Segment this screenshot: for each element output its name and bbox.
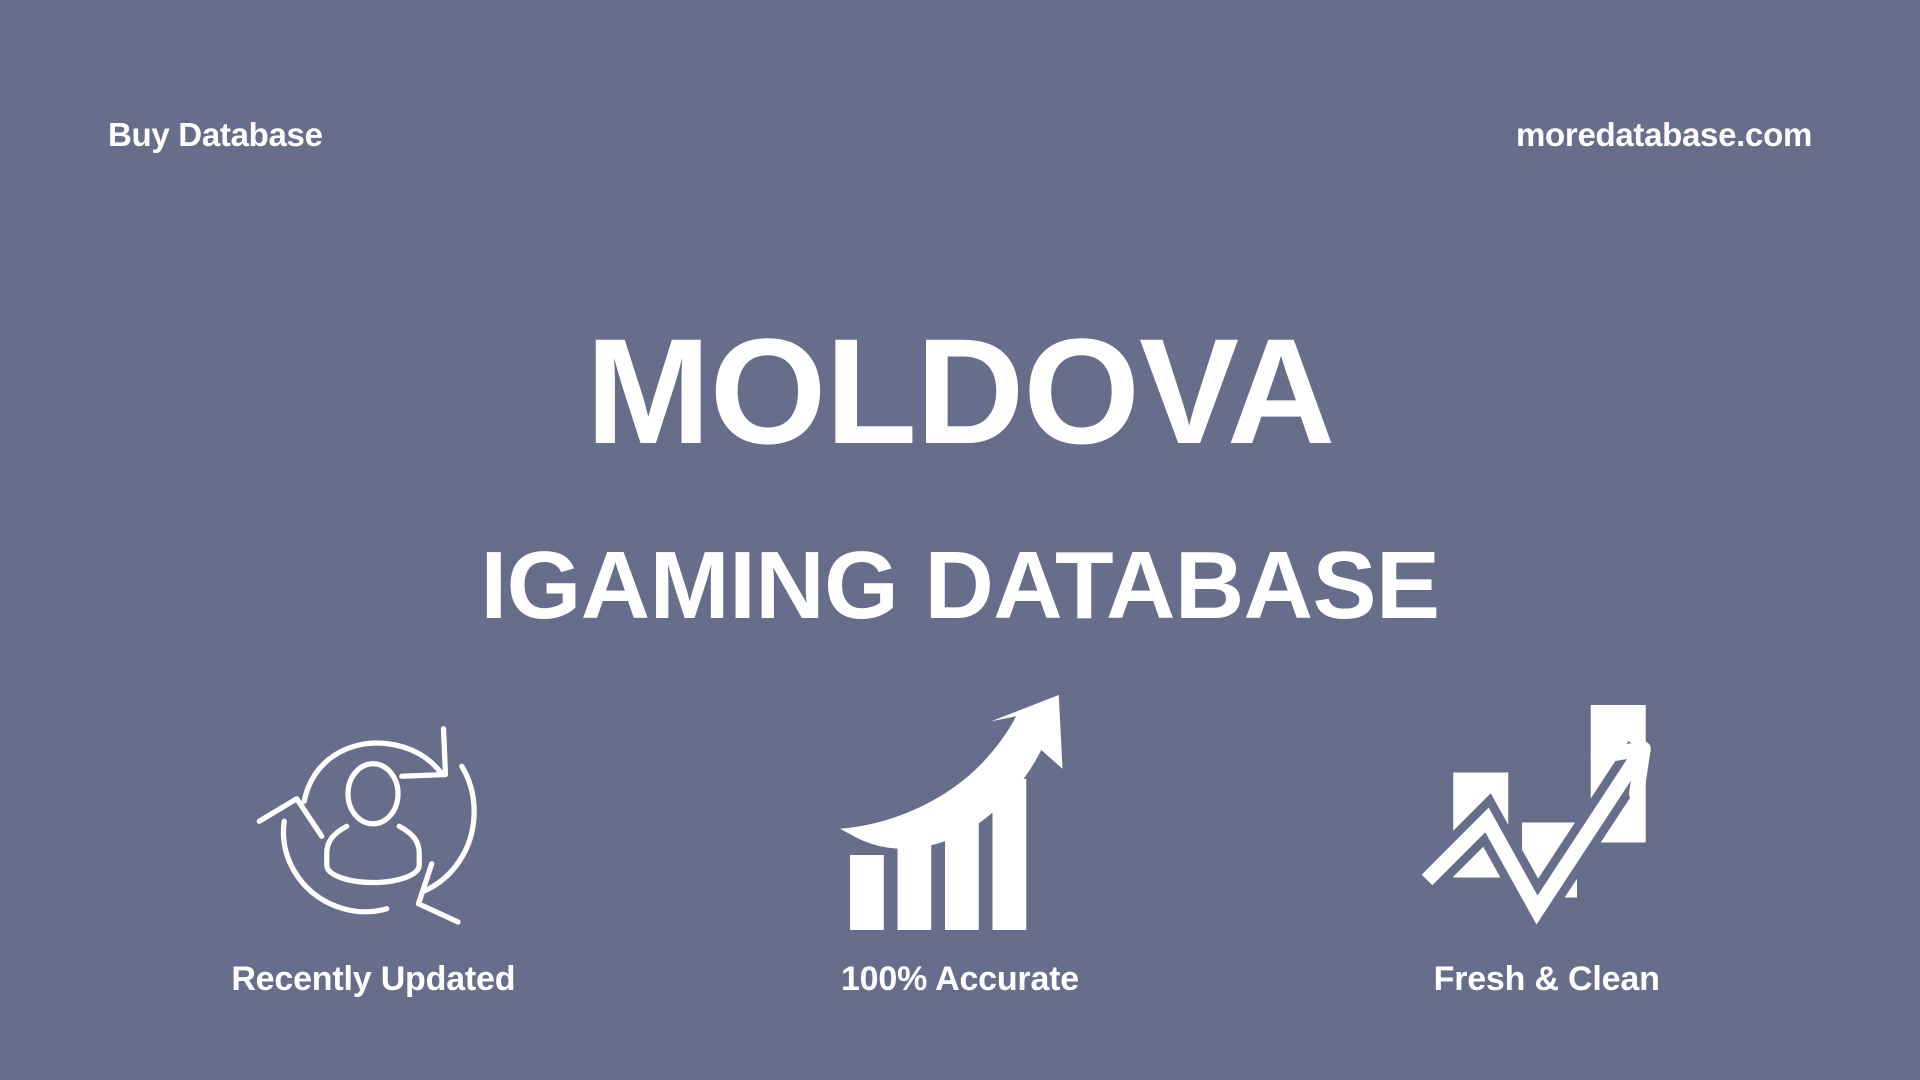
feature-item-fresh-clean: Fresh & Clean — [1337, 680, 1757, 996]
banner-header: Buy Database moredatabase.com — [0, 104, 1920, 164]
hero-section: MOLDOVA IGAMING DATABASE — [0, 316, 1920, 634]
bar-chart-trend-arrow-icon — [1422, 680, 1672, 940]
feature-item-recently-updated: Recently Updated — [163, 680, 583, 996]
brand-label: Buy Database — [108, 118, 323, 151]
website-url-label: moredatabase.com — [1516, 118, 1812, 151]
feature-list: Recently Updated 100% Accurate — [0, 680, 1920, 1040]
feature-label-recently-updated: Recently Updated — [231, 962, 515, 996]
promo-banner: Buy Database moredatabase.com MOLDOVA IG… — [0, 0, 1920, 1080]
growth-bar-chart-arrow-icon — [835, 680, 1085, 940]
feature-label-accurate: 100% Accurate — [841, 962, 1079, 996]
page-title: MOLDOVA — [0, 316, 1920, 466]
feature-label-fresh-clean: Fresh & Clean — [1434, 962, 1660, 996]
feature-item-accurate: 100% Accurate — [750, 680, 1170, 996]
page-subtitle: IGAMING DATABASE — [0, 538, 1920, 634]
refresh-user-icon — [248, 680, 498, 940]
